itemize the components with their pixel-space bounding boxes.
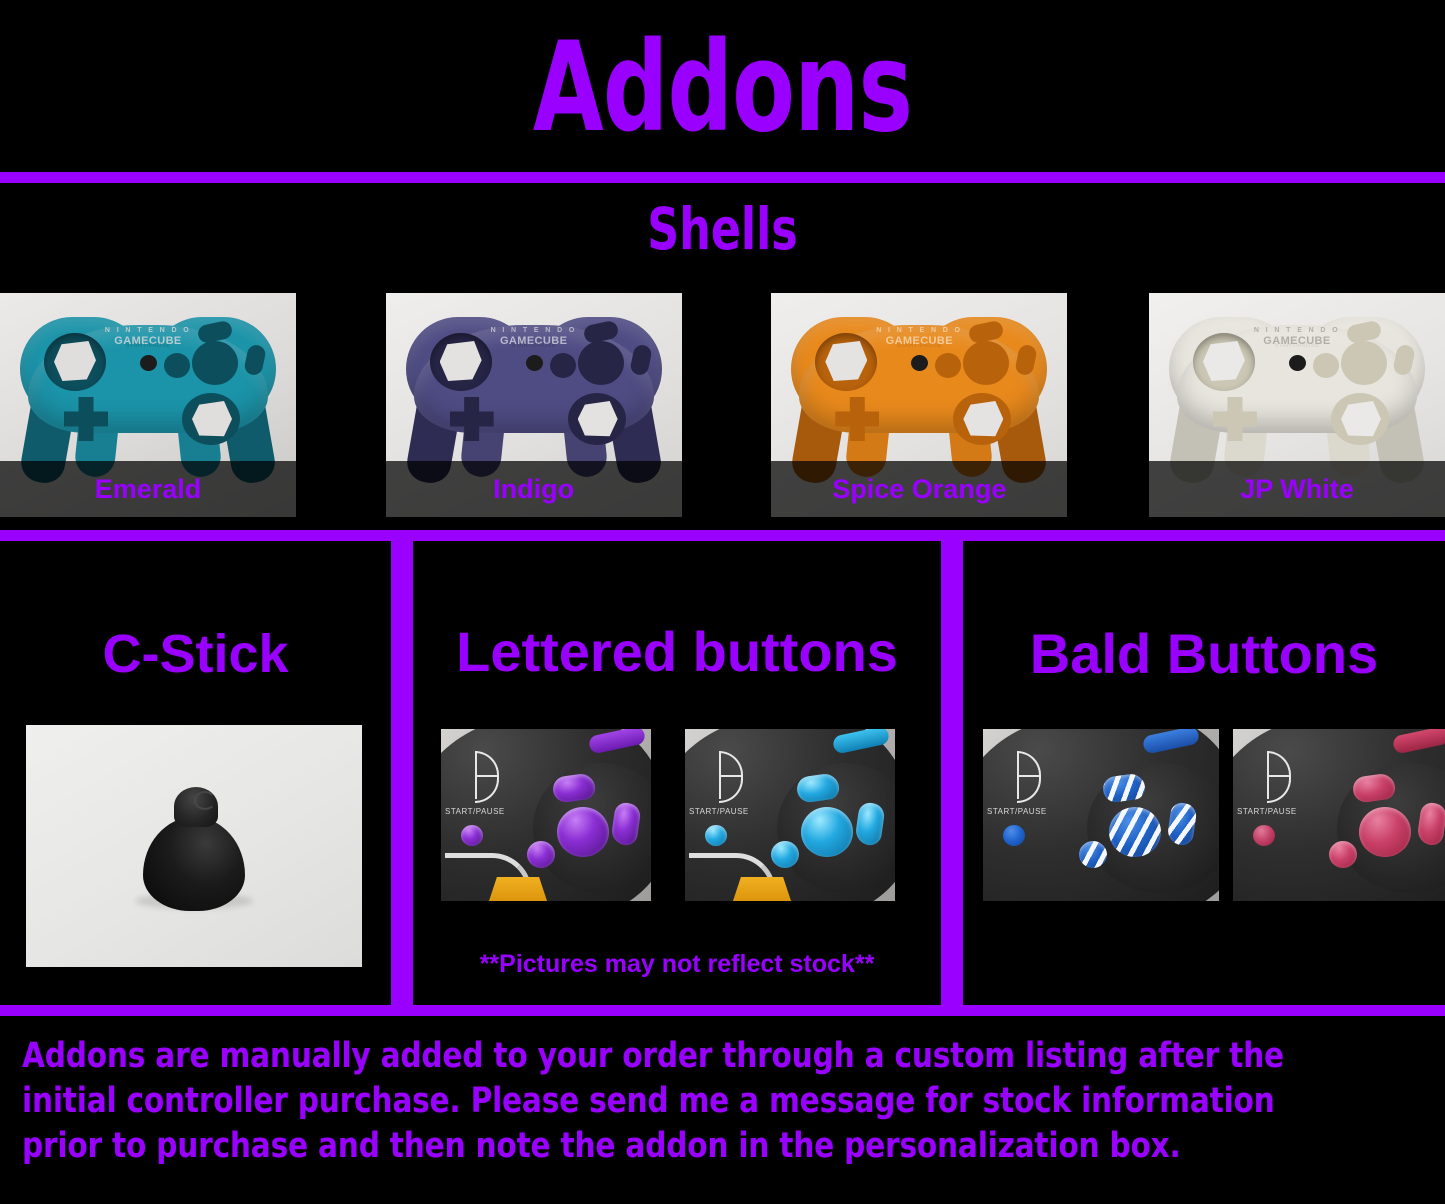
start-button: [1253, 825, 1275, 846]
shell-label-jp-white: JP White: [1240, 474, 1354, 504]
a-button: [1359, 807, 1411, 857]
shell-label-bar: JP White: [1149, 461, 1445, 517]
shell-label-spice-orange: Spice Orange: [832, 474, 1006, 504]
smash-logo-icon: [995, 751, 1039, 799]
shell-label-bar: Indigo: [386, 461, 682, 517]
nintendo-wordmark: N I N T E N D O: [491, 327, 577, 335]
shell-card-emerald[interactable]: N I N T E N D O GAMECUBE START/PAUSE Eme…: [0, 293, 296, 517]
shell-label-indigo: Indigo: [493, 474, 574, 504]
start-pause-label: START/PAUSE: [689, 807, 749, 816]
bald-buttons-photo-row: START/PAUSE START/PAUSE: [983, 729, 1445, 901]
nintendo-wordmark: N I N T E N D O: [105, 327, 191, 335]
start-pause-etch: START/PAUSE: [897, 343, 942, 349]
start-button: [1003, 825, 1025, 846]
nintendo-wordmark: N I N T E N D O: [1254, 327, 1340, 335]
controller-trigger: [487, 877, 549, 901]
start-button: [461, 825, 483, 846]
c-stick-dome-icon: [143, 817, 245, 911]
c-stick-c-marking-icon: [194, 791, 216, 810]
b-button: [1079, 841, 1107, 868]
nintendo-wordmark: N I N T E N D O: [876, 327, 962, 335]
start-pause-etch: START/PAUSE: [125, 343, 170, 349]
smash-logo-icon: [697, 751, 741, 799]
panel-title-c-stick: C-Stick: [0, 625, 391, 683]
shell-label-bar: Emerald: [0, 461, 296, 517]
divider-middle: [0, 530, 1445, 541]
divider-top: [0, 172, 1445, 183]
a-button: [557, 807, 609, 857]
lettered-buttons-photo-purple: START/PAUSE: [441, 729, 651, 901]
stock-disclaimer-note: **Pictures may not reflect stock**: [413, 950, 941, 979]
page-title: Addons: [130, 18, 1315, 158]
shells-section-title: Shells: [108, 196, 1336, 262]
panel-lettered-buttons[interactable]: Lettered buttons START/PAUSE: [402, 541, 952, 1005]
footer-instructions: Addons are manually added to your order …: [22, 1034, 1342, 1169]
start-button: [705, 825, 727, 846]
smash-logo-icon: [453, 751, 497, 799]
start-pause-label: START/PAUSE: [987, 807, 1047, 816]
panel-bald-buttons[interactable]: Bald Buttons START/PAUSE: [952, 541, 1445, 1005]
bald-buttons-photo-pink: START/PAUSE: [1233, 729, 1445, 901]
panel-title-lettered-buttons: Lettered buttons: [413, 623, 941, 681]
panel-title-bald-buttons: Bald Buttons: [963, 625, 1445, 683]
shell-card-jp-white[interactable]: N I N T E N D O GAMECUBE START/PAUSE JP …: [1149, 293, 1445, 517]
addons-infographic: Addons Shells N I N T E N D O GAMECUBE: [0, 0, 1445, 1204]
lettered-buttons-photo-row: START/PAUSE START/PAUSE: [441, 729, 895, 901]
shells-row: N I N T E N D O GAMECUBE START/PAUSE Eme…: [0, 293, 1445, 517]
lettered-buttons-photo-cyan: START/PAUSE: [685, 729, 895, 901]
start-pause-etch: START/PAUSE: [511, 343, 556, 349]
shell-label-bar: Spice Orange: [771, 461, 1067, 517]
b-button: [1329, 841, 1357, 868]
a-button: [1109, 807, 1161, 857]
shell-card-indigo[interactable]: N I N T E N D O GAMECUBE START/PAUSE Ind…: [386, 293, 682, 517]
b-button: [771, 841, 799, 868]
start-pause-label: START/PAUSE: [445, 807, 505, 816]
start-pause-label: START/PAUSE: [1237, 807, 1297, 816]
b-button: [527, 841, 555, 868]
divider-bottom: [0, 1005, 1445, 1016]
controller-trigger: [731, 877, 793, 901]
shell-label-emerald: Emerald: [95, 474, 202, 504]
shell-card-spice-orange[interactable]: N I N T E N D O GAMECUBE START/PAUSE Spi…: [771, 293, 1067, 517]
bald-buttons-photo-blue: START/PAUSE: [983, 729, 1219, 901]
a-button: [801, 807, 853, 857]
panel-c-stick[interactable]: C-Stick: [0, 541, 402, 1005]
start-pause-etch: START/PAUSE: [1274, 343, 1319, 349]
c-stick-photo: [26, 725, 362, 967]
smash-logo-icon: [1245, 751, 1289, 799]
